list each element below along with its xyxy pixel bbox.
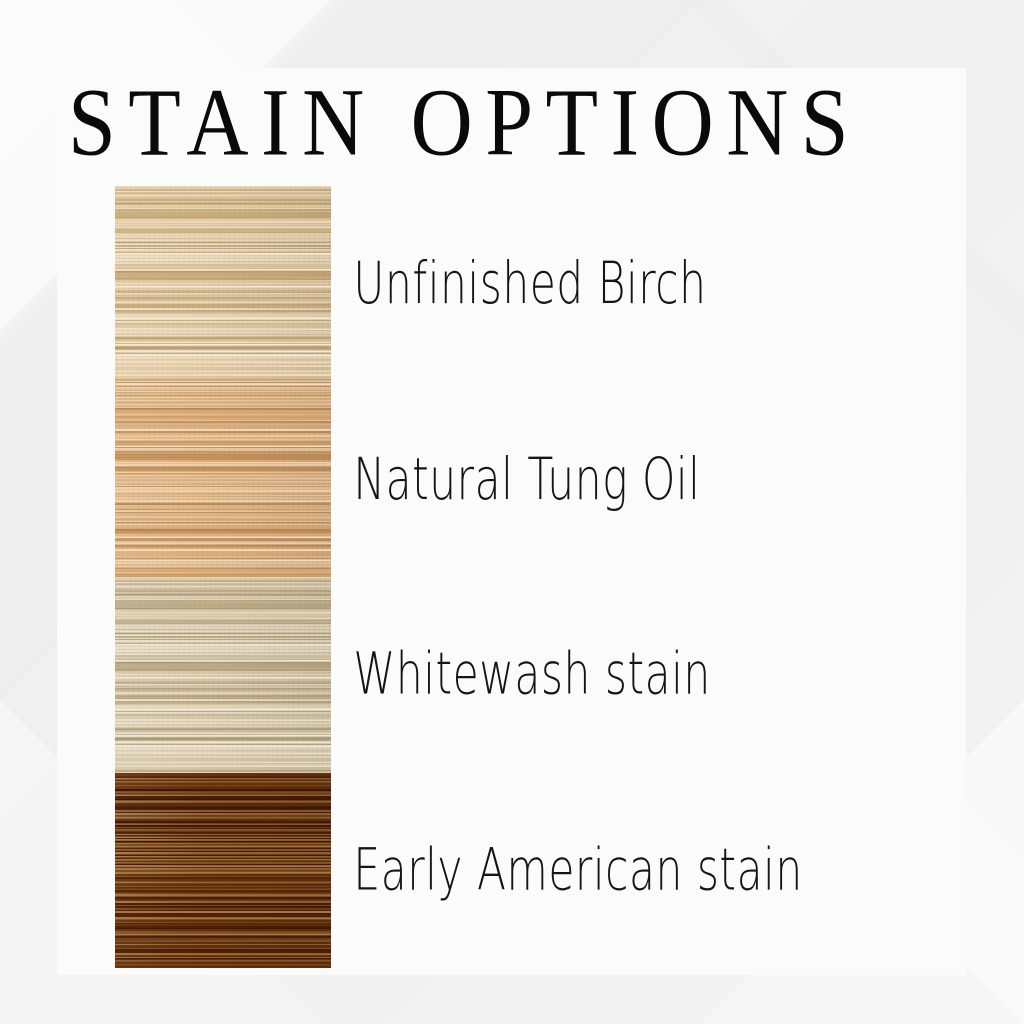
swatch-label-unfinished-birch: Unfinished Birch xyxy=(331,255,839,313)
list-item[interactable]: Unfinished Birch xyxy=(115,186,966,382)
stain-swatch-list: Unfinished Birch Natural Tung Oil Whitew… xyxy=(115,186,966,968)
list-item[interactable]: Early American stain xyxy=(115,773,966,969)
wood-grain-texture xyxy=(115,577,331,773)
swatch-natural-tung-oil[interactable] xyxy=(115,382,331,578)
swatch-early-american-stain[interactable] xyxy=(115,773,331,969)
list-item[interactable]: Whitewash stain xyxy=(115,577,966,773)
stain-options-graphic: STAIN OPTIONS Unfinished Birch Natural T… xyxy=(0,0,1024,1024)
swatch-unfinished-birch[interactable] xyxy=(115,186,331,382)
swatch-label-natural-tung-oil: Natural Tung Oil xyxy=(331,450,839,508)
wood-grain-texture xyxy=(115,382,331,578)
page-title: STAIN OPTIONS xyxy=(68,74,958,170)
swatch-label-whitewash-stain: Whitewash stain xyxy=(331,646,839,704)
swatch-label-early-american-stain: Early American stain xyxy=(331,841,839,899)
swatch-whitewash-stain[interactable] xyxy=(115,577,331,773)
wood-grain-texture xyxy=(115,773,331,969)
wood-grain-texture xyxy=(115,186,331,382)
list-item[interactable]: Natural Tung Oil xyxy=(115,382,966,578)
